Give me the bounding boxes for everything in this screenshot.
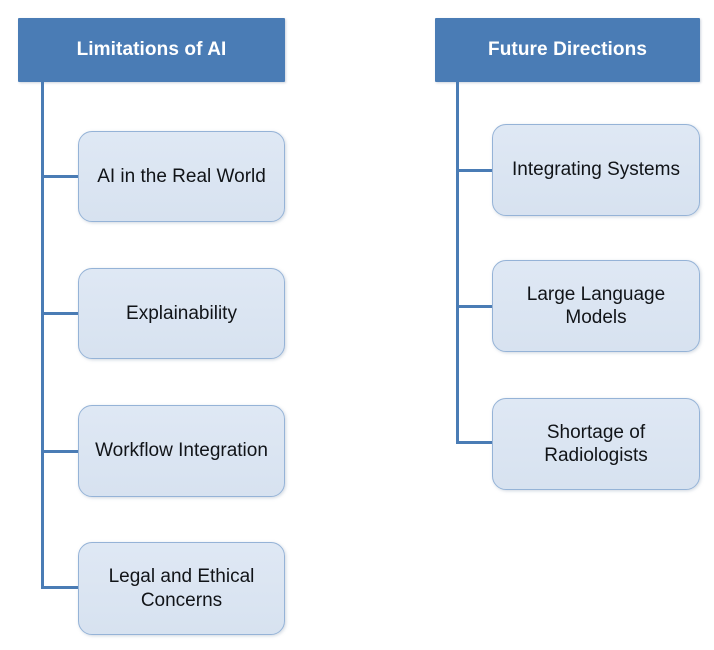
node-shortage-of-radiologists[interactable]: Shortage of Radiologists [492,398,700,490]
node-explainability-label: Explainability [116,302,247,325]
node-legal-and-ethical-concerns-label: Legal and Ethical Concerns [79,565,284,611]
connector-branch-limitations-3 [41,450,81,453]
node-shortage-of-radiologists-label: Shortage of Radiologists [493,421,699,467]
root-node-future-directions-label: Future Directions [488,39,647,61]
connector-branch-limitations-2 [41,312,81,315]
connector-branch-limitations-4 [41,586,81,589]
node-workflow-integration-label: Workflow Integration [85,439,278,462]
node-ai-in-the-real-world-label: AI in the Real World [87,165,276,188]
connector-branch-future-3 [456,441,493,444]
connector-branch-limitations-1 [41,175,81,178]
root-node-limitations[interactable]: Limitations of AI [18,18,285,82]
diagram-column-future: Future Directions Integrating Systems La… [417,0,714,650]
node-large-language-models[interactable]: Large Language Models [492,260,700,352]
connector-branch-future-1 [456,169,493,172]
connector-branch-future-2 [456,305,493,308]
node-integrating-systems[interactable]: Integrating Systems [492,124,700,216]
connector-trunk-future [456,82,459,444]
node-large-language-models-label: Large Language Models [493,283,699,329]
node-explainability[interactable]: Explainability [78,268,285,359]
diagram-canvas: Limitations of AI AI in the Real World E… [0,0,714,650]
root-node-future-directions[interactable]: Future Directions [435,18,700,82]
node-workflow-integration[interactable]: Workflow Integration [78,405,285,497]
diagram-column-limitations: Limitations of AI AI in the Real World E… [0,0,357,650]
node-integrating-systems-label: Integrating Systems [502,158,690,181]
node-ai-in-the-real-world[interactable]: AI in the Real World [78,131,285,222]
connector-trunk-limitations [41,82,44,589]
node-legal-and-ethical-concerns[interactable]: Legal and Ethical Concerns [78,542,285,635]
root-node-limitations-label: Limitations of AI [77,39,227,61]
